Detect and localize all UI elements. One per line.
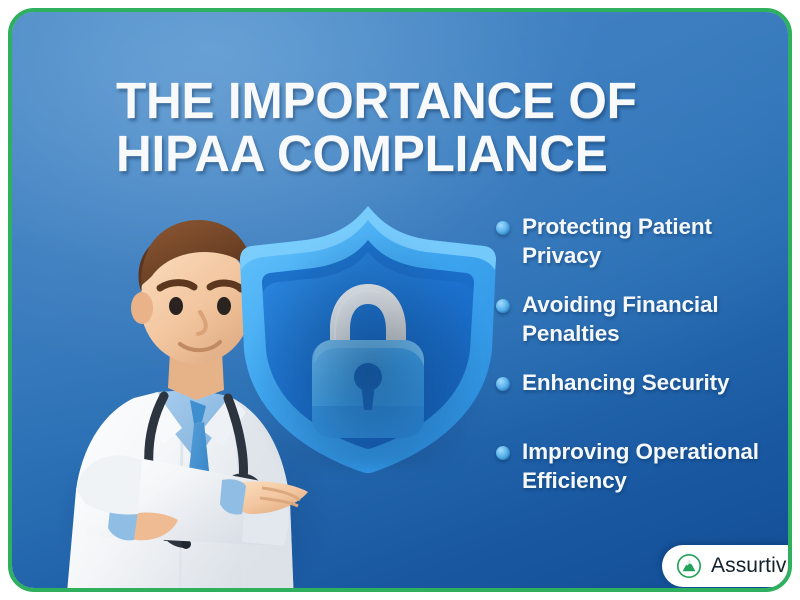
list-item: Avoiding Financial Penalties [496,290,792,348]
mountain-in-circle-icon [676,553,702,579]
bullet-dot-icon [496,299,510,313]
list-item-label: Avoiding Financial Penalties [522,290,792,348]
benefits-list: Protecting Patient Privacy Avoiding Fina… [496,212,792,495]
poster-canvas: THE IMPORTANCE OF HIPAA COMPLIANCE [0,0,800,600]
brand-badge: Assurtiv [662,545,792,587]
bullet-dot-icon [496,377,510,391]
list-item: Protecting Patient Privacy [496,212,792,270]
list-item-label: Protecting Patient Privacy [522,212,792,270]
poster-frame: THE IMPORTANCE OF HIPAA COMPLIANCE [8,8,792,592]
bullet-dot-icon [496,221,510,235]
list-item-label: Improving Operational Efficiency [522,437,792,495]
brand-name: Assurtiv [711,554,786,578]
list-item: Enhancing Security [496,368,792,397]
list-item: Improving Operational Efficiency [496,437,792,495]
shield-shadow [252,230,488,468]
bullet-dot-icon [496,446,510,460]
shield-illustration [234,200,502,478]
page-title: THE IMPORTANCE OF HIPAA COMPLIANCE [116,74,698,180]
list-item-label: Enhancing Security [522,368,729,397]
